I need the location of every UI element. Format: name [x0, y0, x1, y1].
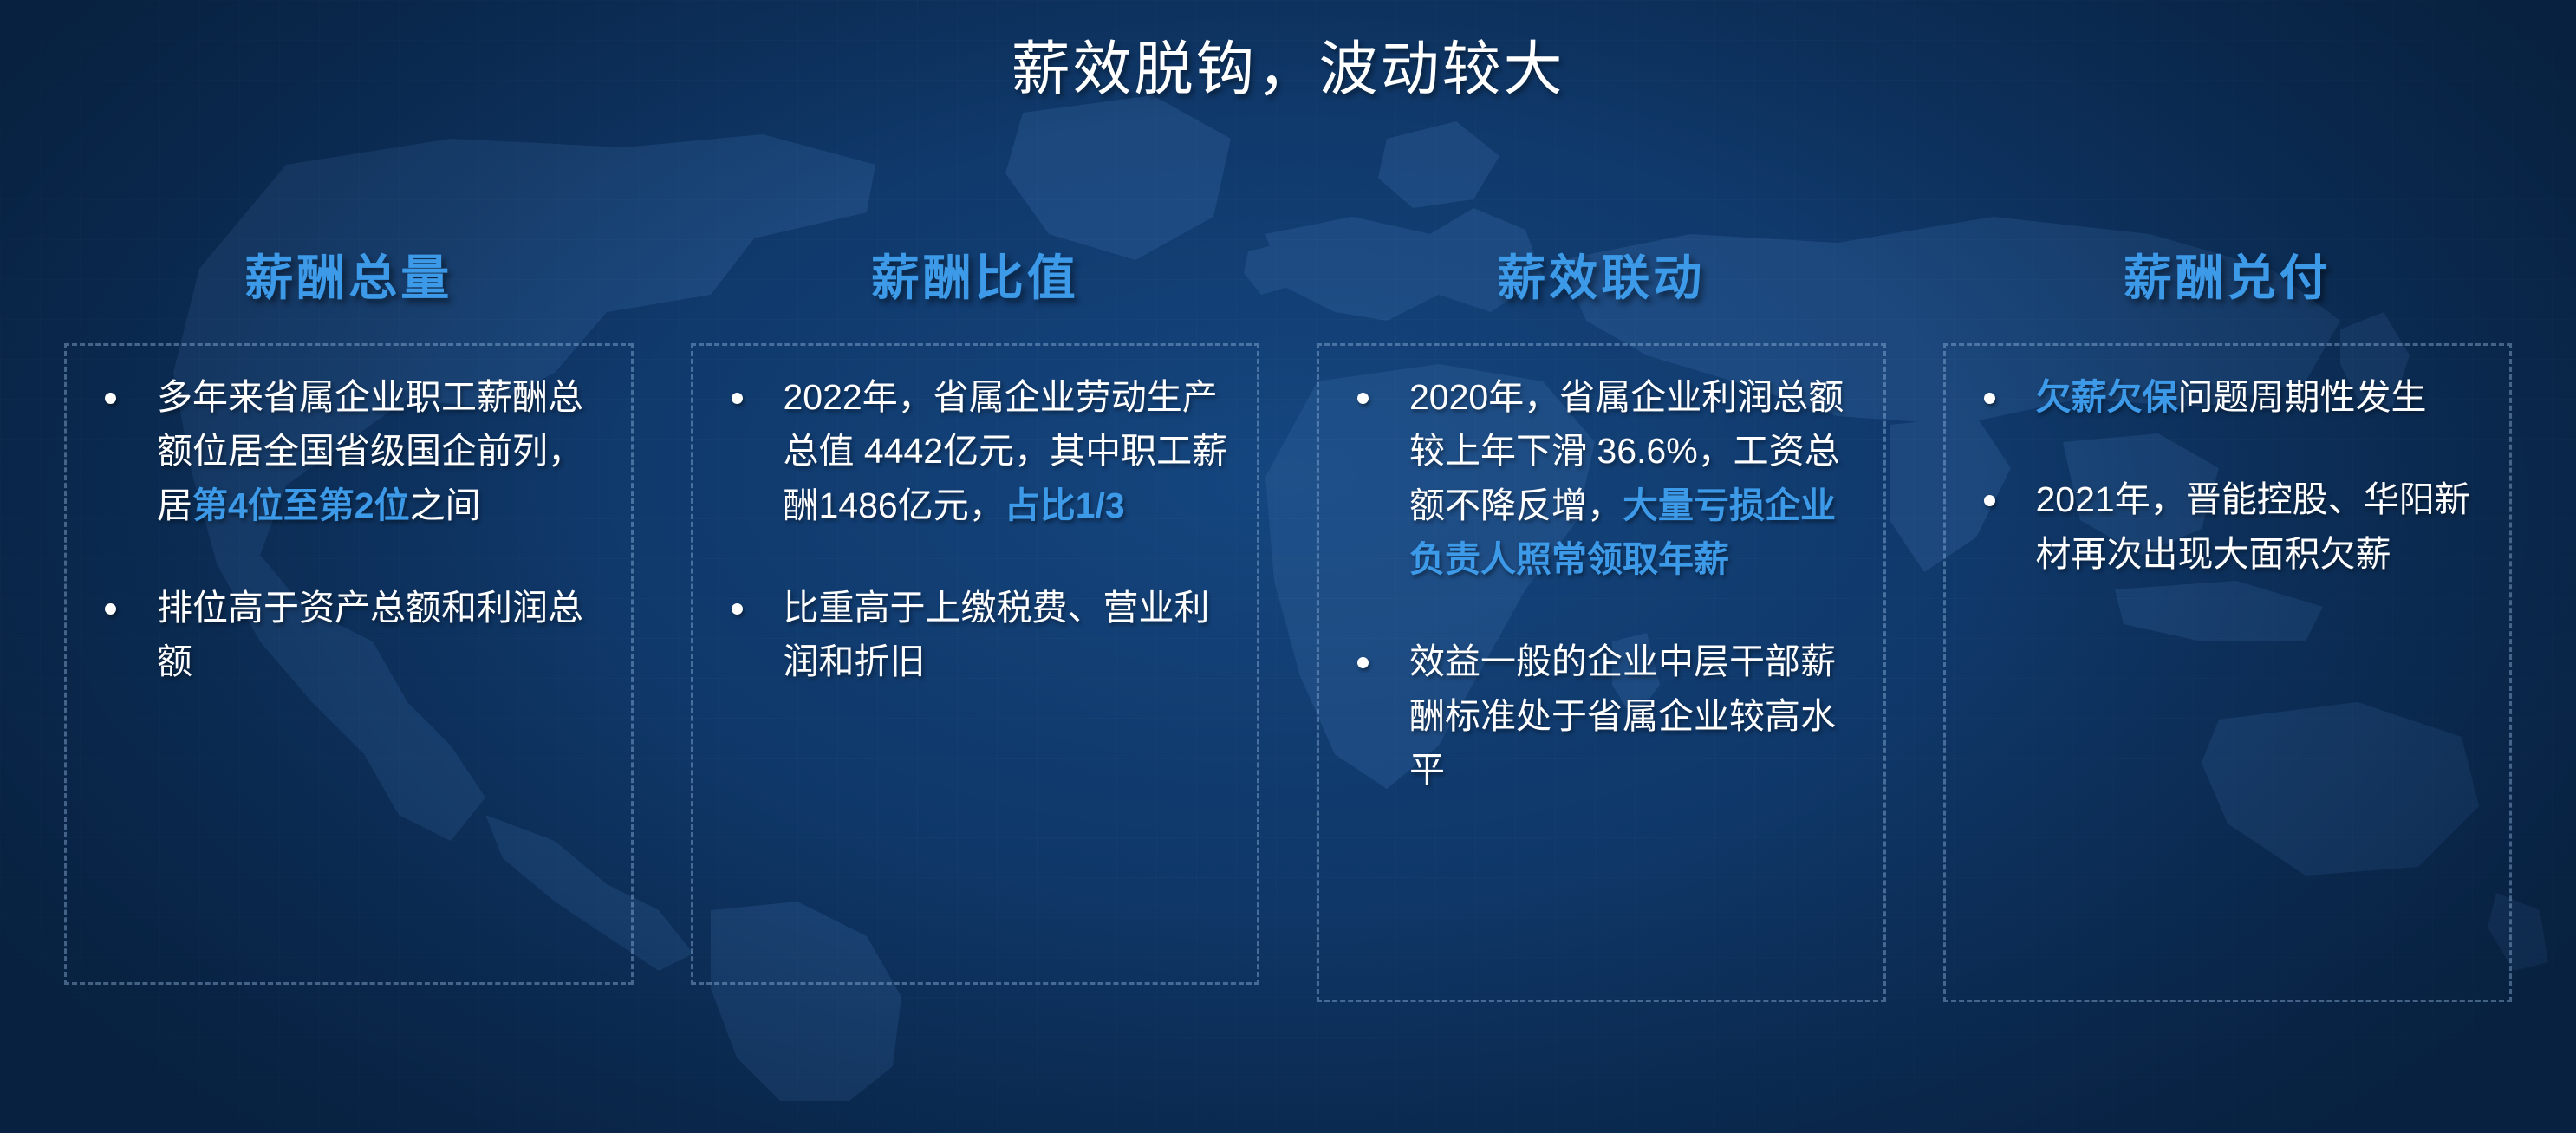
- column-salary-ratio: 薪酬比值 2022年，省属企业劳动生产总值 4442亿元，其中职工薪酬1486亿…: [691, 205, 1260, 1002]
- plain-text: 效益一般的企业中层干部薪酬标准处于省属企业较高水平: [1409, 641, 1836, 790]
- page-title: 薪效脱钩，波动较大: [0, 21, 2576, 107]
- column-salary-payment: 薪酬兑付 欠薪欠保问题周期性发生 2021年，晋能控股、华阳新材再次出现大面积欠…: [1943, 205, 2513, 1002]
- highlighted-text: 第4位至第2位: [192, 485, 410, 525]
- list-item: 效益一般的企业中层干部薪酬标准处于省属企业较高水平: [1330, 635, 1857, 797]
- bullet-text: 欠薪欠保问题周期性发生: [2036, 377, 2427, 417]
- bullet-text: 排位高于资产总额和利润总额: [157, 588, 583, 681]
- highlighted-text: 占比1/3: [1005, 485, 1125, 525]
- bullet-list: 2022年，省属企业劳动生产总值 4442亿元，其中职工薪酬1486亿元，占比1…: [704, 370, 1232, 689]
- list-item: 2020年，省属企业利润总额较上年下滑 36.6%，工资总额不降反增，大量亏损企…: [1330, 370, 1857, 586]
- plain-text: 问题周期性发生: [2178, 377, 2427, 417]
- list-item: 2022年，省属企业劳动生产总值 4442亿元，其中职工薪酬1486亿元，占比1…: [704, 370, 1232, 532]
- bullet-text: 比重高于上缴税费、营业利润和折旧: [784, 588, 1210, 681]
- highlighted-text: 欠薪欠保: [2036, 377, 2178, 417]
- column-heading: 薪酬比值: [691, 205, 1260, 343]
- columns-container: 薪酬总量 多年来省属企业职工薪酬总额位居全国省级国企前列，居第4位至第2位之间 …: [64, 205, 2512, 1002]
- bullet-text: 效益一般的企业中层干部薪酬标准处于省属企业较高水平: [1409, 641, 1836, 790]
- plain-text: 比重高于上缴税费、营业利润和折旧: [784, 588, 1210, 681]
- presentation-slide: 薪效脱钩，波动较大 薪酬总量 多年来省属企业职工薪酬总额位居全国省级国企前列，居…: [0, 0, 2576, 1133]
- column-salary-total: 薪酬总量 多年来省属企业职工薪酬总额位居全国省级国企前列，居第4位至第2位之间 …: [64, 205, 634, 1002]
- bullet-list: 欠薪欠保问题周期性发生 2021年，晋能控股、华阳新材再次出现大面积欠薪: [1956, 370, 2484, 581]
- column-content-box: 多年来省属企业职工薪酬总额位居全国省级国企前列，居第4位至第2位之间 排位高于资…: [64, 343, 634, 985]
- plain-text: 之间: [410, 485, 481, 525]
- plain-text: 2021年，晋能控股、华阳新材再次出现大面积欠薪: [2036, 479, 2470, 573]
- column-heading: 薪酬兑付: [1943, 205, 2513, 343]
- column-pay-performance-link: 薪效联动 2020年，省属企业利润总额较上年下滑 36.6%，工资总额不降反增，…: [1317, 205, 1886, 1002]
- bullet-text: 2022年，省属企业劳动生产总值 4442亿元，其中职工薪酬1486亿元，占比1…: [784, 377, 1228, 525]
- column-heading: 薪效联动: [1317, 205, 1886, 343]
- list-item: 排位高于资产总额和利润总额: [77, 581, 605, 689]
- list-item: 欠薪欠保问题周期性发生: [1956, 370, 2484, 424]
- column-heading: 薪酬总量: [64, 205, 634, 343]
- column-content-box: 欠薪欠保问题周期性发生 2021年，晋能控股、华阳新材再次出现大面积欠薪: [1943, 343, 2513, 1002]
- list-item: 多年来省属企业职工薪酬总额位居全国省级国企前列，居第4位至第2位之间: [77, 370, 605, 532]
- bullet-text: 多年来省属企业职工薪酬总额位居全国省级国企前列，居第4位至第2位之间: [157, 377, 583, 525]
- column-content-box: 2020年，省属企业利润总额较上年下滑 36.6%，工资总额不降反增，大量亏损企…: [1317, 343, 1886, 1002]
- list-item: 2021年，晋能控股、华阳新材再次出现大面积欠薪: [1956, 472, 2484, 581]
- list-item: 比重高于上缴税费、营业利润和折旧: [704, 581, 1232, 689]
- bullet-text: 2020年，省属企业利润总额较上年下滑 36.6%，工资总额不降反增，大量亏损企…: [1409, 377, 1844, 579]
- bullet-list: 多年来省属企业职工薪酬总额位居全国省级国企前列，居第4位至第2位之间 排位高于资…: [77, 370, 605, 689]
- bullet-list: 2020年，省属企业利润总额较上年下滑 36.6%，工资总额不降反增，大量亏损企…: [1330, 370, 1857, 797]
- plain-text: 排位高于资产总额和利润总额: [157, 588, 583, 681]
- column-content-box: 2022年，省属企业劳动生产总值 4442亿元，其中职工薪酬1486亿元，占比1…: [691, 343, 1260, 985]
- bullet-text: 2021年，晋能控股、华阳新材再次出现大面积欠薪: [2036, 479, 2470, 573]
